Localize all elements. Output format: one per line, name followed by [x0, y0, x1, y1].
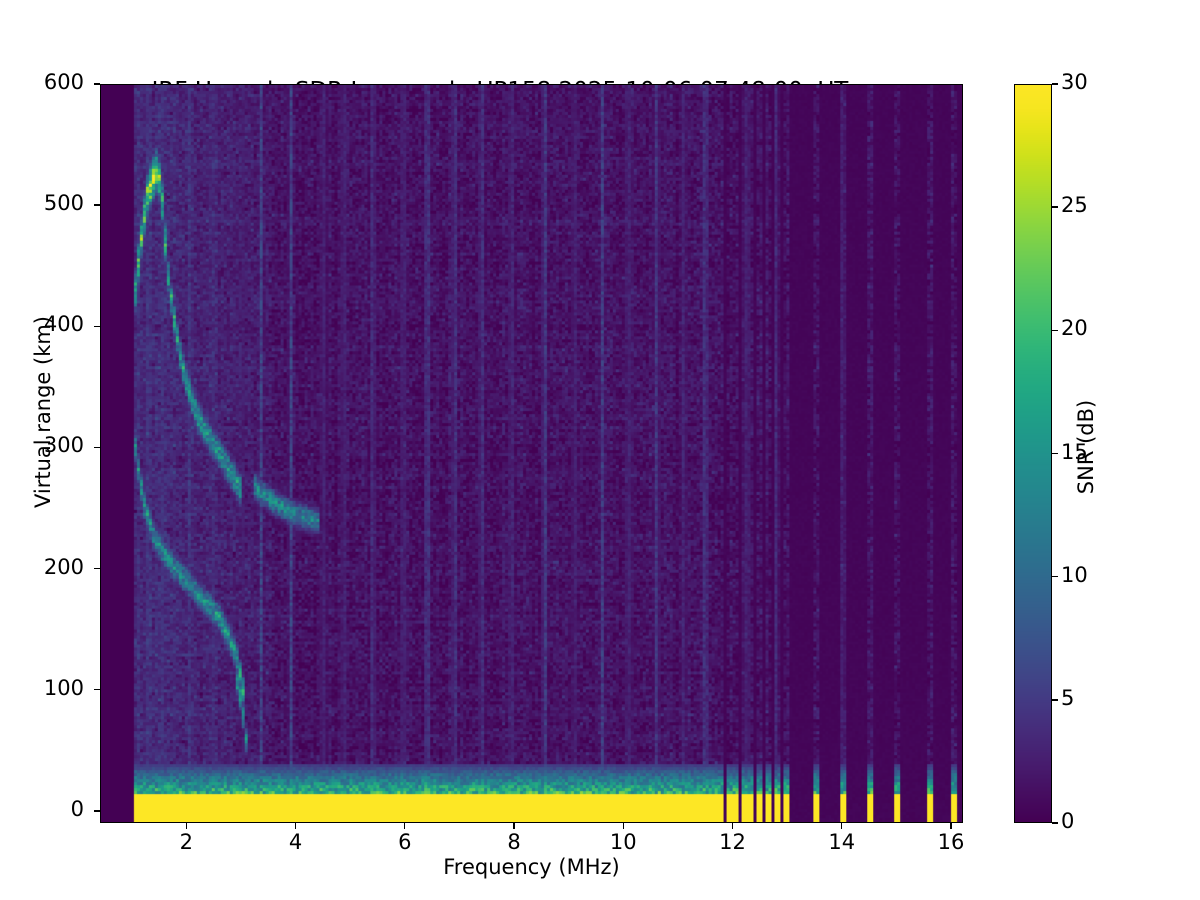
y-tick-mark: [94, 568, 100, 569]
colorbar-tick-mark: [1052, 576, 1058, 577]
x-tick-label: 14: [812, 830, 872, 854]
colorbar-tick-label: 5: [1061, 686, 1121, 710]
y-axis-label: Virtual range (km): [31, 132, 55, 692]
y-tick-mark: [94, 447, 100, 448]
x-tick-label: 10: [593, 830, 653, 854]
x-tick-mark: [513, 823, 514, 829]
colorbar-label: SNR (dB): [1074, 247, 1098, 647]
x-tick-label: 16: [921, 830, 981, 854]
colorbar-tick-label: 30: [1061, 70, 1121, 94]
colorbar-tick-label: 0: [1061, 809, 1121, 833]
x-tick-label: 6: [375, 830, 435, 854]
ionogram-plot-area[interactable]: [100, 84, 963, 823]
x-tick-mark: [404, 823, 405, 829]
ionogram-figure: IRF Uppsala SDR Ionosonde UP158 2025-10-…: [0, 0, 1200, 900]
x-tick-mark: [950, 823, 951, 829]
colorbar-tick-mark: [1052, 699, 1058, 700]
colorbar-tick-mark: [1052, 83, 1058, 84]
ionogram-heatmap: [101, 85, 962, 822]
colorbar-tick-mark: [1052, 453, 1058, 454]
x-tick-mark: [186, 823, 187, 829]
y-tick-mark: [94, 689, 100, 690]
colorbar-gradient: [1015, 85, 1051, 822]
y-tick-mark: [94, 83, 100, 84]
y-tick-mark: [94, 204, 100, 205]
x-tick-mark: [841, 823, 842, 829]
colorbar-tick-label: 25: [1061, 193, 1121, 217]
y-tick-mark: [94, 810, 100, 811]
colorbar-tick-mark: [1052, 330, 1058, 331]
colorbar-tick-mark: [1052, 822, 1058, 823]
x-tick-label: 8: [484, 830, 544, 854]
x-tick-mark: [295, 823, 296, 829]
colorbar-tick-mark: [1052, 206, 1058, 207]
x-axis-label: Frequency (MHz): [100, 855, 963, 879]
x-tick-mark: [732, 823, 733, 829]
x-tick-label: 4: [266, 830, 326, 854]
colorbar[interactable]: [1014, 84, 1052, 823]
y-tick-mark: [94, 326, 100, 327]
x-tick-label: 12: [703, 830, 763, 854]
x-tick-label: 2: [156, 830, 216, 854]
y-tick-label: 600: [14, 70, 84, 94]
y-tick-label: 0: [14, 797, 84, 821]
x-tick-mark: [623, 823, 624, 829]
